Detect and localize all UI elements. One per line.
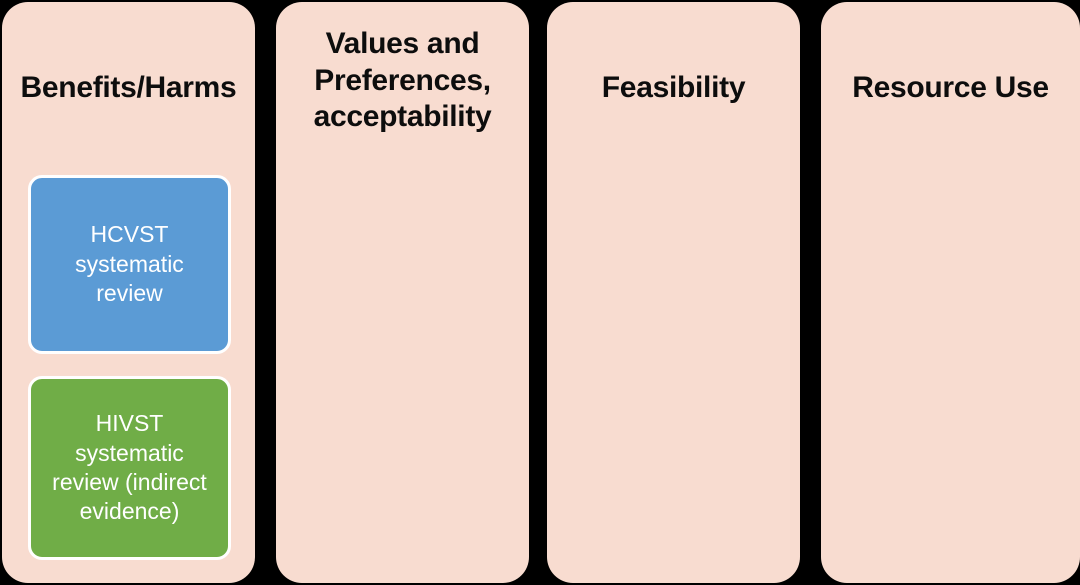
node-hcvst-systematic-review[interactable]: HCVST systematic review <box>28 175 231 354</box>
column-header-benefits-harms: Benefits/Harms <box>2 70 255 107</box>
column-feasibility: Feasibility Special usability & acceptab… <box>547 2 800 583</box>
node-hivst-systematic-review-indirect[interactable]: HIVST systematic review (indirect eviden… <box>28 376 231 560</box>
column-header-feasibility: Feasibility <box>547 70 800 107</box>
column-header-values-preferences: Values and Preferences, acceptability <box>276 26 529 136</box>
column-header-resource-use: Resource Use <box>821 70 1080 107</box>
column-resource-use: Resource Use <box>821 2 1080 583</box>
column-values-preferences: Values and Preferences, acceptability HC… <box>276 2 529 583</box>
diagram-canvas: Benefits/Harms HCVST systematic review H… <box>0 0 1080 585</box>
column-benefits-harms: Benefits/Harms HCVST systematic review H… <box>2 2 255 583</box>
node-label: HIVST systematic review (indirect eviden… <box>39 409 220 527</box>
node-label: HCVST systematic review <box>39 220 220 308</box>
